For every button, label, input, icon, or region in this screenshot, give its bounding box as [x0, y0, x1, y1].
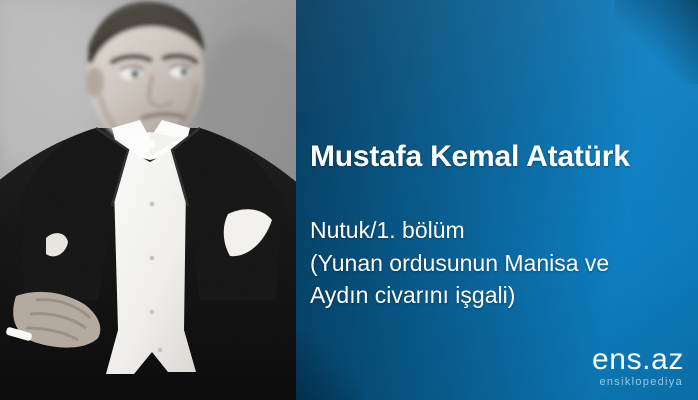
portrait-photo-illustration	[0, 0, 296, 400]
site-logo[interactable]: ens.az ensiklopediya	[592, 345, 684, 388]
portrait-photo	[0, 0, 296, 400]
page-title: Mustafa Kemal Atatürk	[310, 140, 698, 174]
article-banner-card: Mustafa Kemal Atatürk Nutuk/1. bölüm (Yu…	[0, 0, 698, 400]
corner-accent-bottom-left	[296, 332, 364, 400]
subtitle-line-2: (Yunan ordusunun Manisa ve	[310, 247, 698, 280]
corner-accent-top-right	[614, 0, 698, 84]
logo-tagline: ensiklopediya	[592, 377, 683, 388]
subtitle-line-1: Nutuk/1. bölüm	[310, 214, 698, 247]
subtitle-line-3: Aydın civarını işgali)	[310, 279, 698, 312]
logo-wordmark: ens.az	[592, 345, 684, 375]
panel-sheen	[296, 0, 698, 400]
page-subtitle: Nutuk/1. bölüm (Yunan ordusunun Manisa v…	[310, 214, 698, 312]
info-panel: Mustafa Kemal Atatürk Nutuk/1. bölüm (Yu…	[296, 0, 698, 400]
